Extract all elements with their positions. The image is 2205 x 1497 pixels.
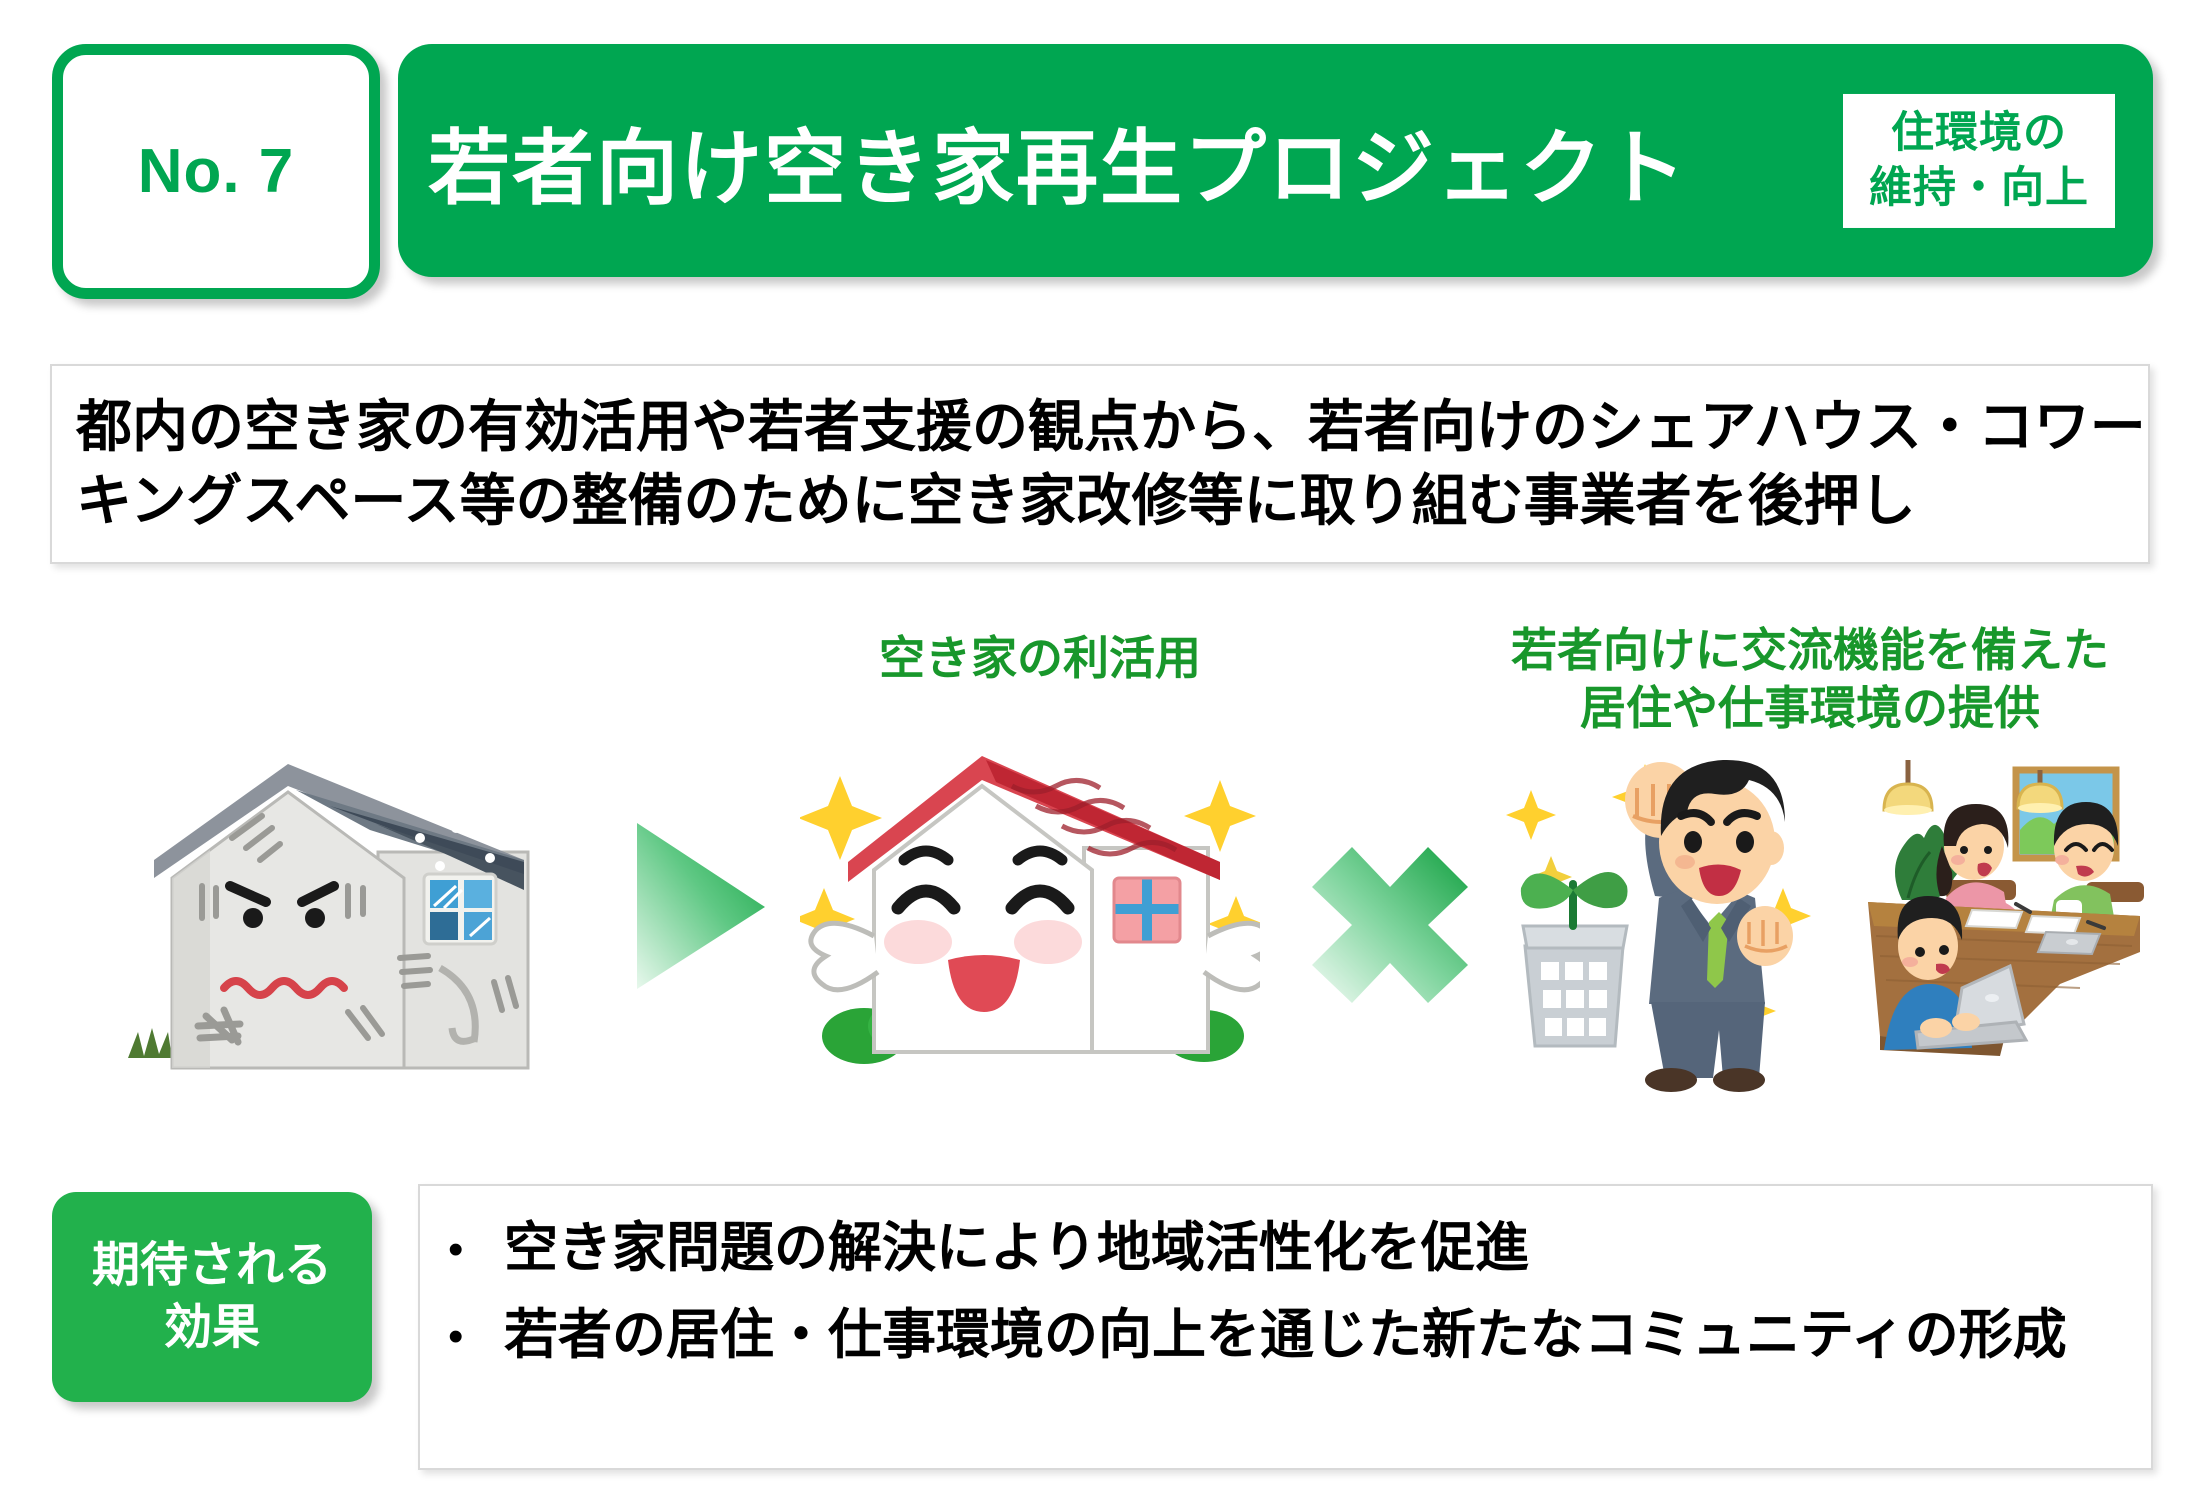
slide-number-label: No. 7 [138,136,295,207]
effect-item-1: 空き家問題の解決により地域活性化を促進 [504,1216,1529,1281]
coworking-shared-space-illustration [1850,750,2180,1095]
bullet-marker-icon: • [448,1303,504,1359]
renovated-happy-house-illustration [800,720,1260,1090]
cheering-businessman-with-building-sprout-illustration [1495,750,1875,1100]
caption-provide-living-work-environment: 若者向けに交流機能を備えた 居住や仕事環境の提供 [1460,622,2160,737]
category-badge-line1: 住環境の [1869,105,2089,160]
expected-effects-label-line1: 期待される [92,1235,332,1297]
title-bar: 若者向け空き家再生プロジェクト 住環境の 維持・向上 [398,44,2153,277]
slide-header: No. 7 若者向け空き家再生プロジェクト 住環境の 維持・向上 [0,0,2205,280]
expected-effects-label-line2: 効果 [164,1297,260,1359]
effect-item-2: 若者の居住・仕事環境の向上を通じた新たなコミュニティの形成 [504,1303,2067,1368]
page-title: 若者向け空き家再生プロジェクト [428,101,1688,220]
description-line-1: 都内の空き家の有効活用や若者支援の観点から、若者向けのシェアハウス・コワー [76,390,2118,464]
description-box: 都内の空き家の有効活用や若者支援の観点から、若者向けのシェアハウス・コワー キン… [50,364,2150,564]
bullet-marker-icon: • [448,1216,504,1272]
derelict-vacant-house-illustration [120,720,540,1090]
slide-number-badge: No. 7 [52,44,380,299]
caption-provide-line-2: 居住や仕事環境の提供 [1460,680,2160,738]
concept-diagram: 空き家の利活用 若者向けに交流機能を備えた 居住や仕事環境の提供 [0,600,2205,1120]
category-badge: 住環境の 維持・向上 [1843,93,2115,227]
list-item: • 空き家問題の解決により地域活性化を促進 [448,1216,2131,1281]
expected-effects-box: • 空き家問題の解決により地域活性化を促進 • 若者の居住・仕事環境の向上を通じ… [418,1184,2153,1470]
green-cross-multiply-icon [1300,835,1480,1015]
caption-vacant-house-utilization: 空き家の利活用 [790,630,1290,688]
category-badge-line2: 維持・向上 [1869,161,2089,216]
list-item: • 若者の居住・仕事環境の向上を通じた新たなコミュニティの形成 [448,1303,2131,1368]
caption-provide-line-1: 若者向けに交流機能を備えた [1460,622,2160,680]
description-line-2: キングスペース等の整備のために空き家改修等に取り組む事業者を後押し [76,464,2118,538]
green-triangle-arrow-right-icon [625,815,800,995]
expected-effects-label: 期待される 効果 [52,1192,372,1402]
